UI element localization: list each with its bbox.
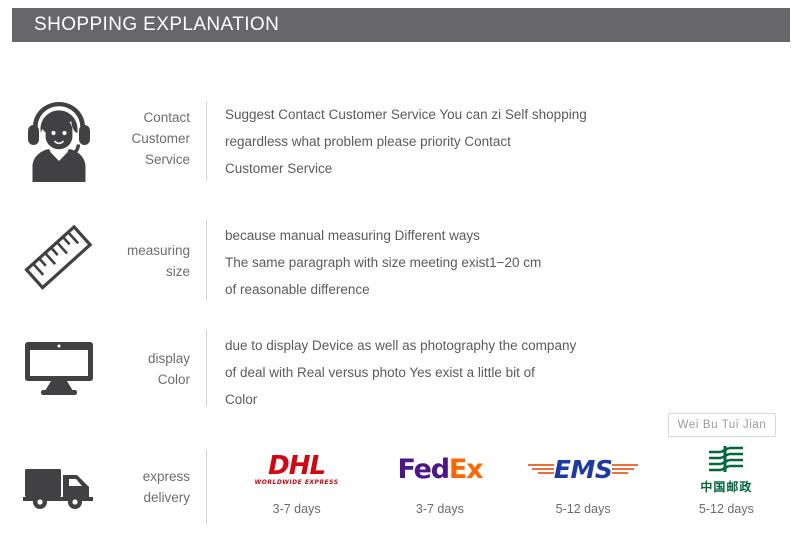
wei-bu-tui-jian-label: Wei Bu Tui Jian (678, 419, 767, 431)
dhl-logo-subtext: WORLDWIDE EXPRESS (255, 480, 339, 486)
dhl-logo-text: DHL (255, 453, 339, 479)
section-measuring-body: because manual measuring Different ways … (207, 218, 541, 303)
fedex-logo-text-ex: Ex (449, 454, 482, 485)
ruler-icon-cell (0, 218, 118, 298)
section-display-label: display Color (118, 330, 192, 390)
dhl-logo: DHL WORLDWIDE EXPRESS (255, 448, 339, 490)
carrier-list: DHL WORLDWIDE EXPRESS 3-7 days FedEx 3-7… (207, 448, 798, 516)
fedex-logo: FedEx (397, 448, 482, 490)
ems-logo-right-stripes (612, 464, 638, 474)
fedex-delivery-days: 3-7 days (416, 502, 464, 516)
ems-logo-text: EMS (554, 457, 612, 482)
monitor-icon (23, 338, 95, 398)
china-post-delivery-days: 5-12 days (699, 502, 754, 516)
delivery-truck-icon-cell (0, 448, 118, 524)
shopping-explanation-page: { "header": { "title": "SHOPPING EXPLANA… (0, 0, 798, 544)
carrier-china-post: 中国邮政 5-12 days (655, 448, 798, 516)
section-measuring-label: measuring size (118, 218, 192, 282)
carrier-fedex: FedEx 3-7 days (368, 448, 511, 516)
ruler-icon (23, 223, 95, 293)
china-post-logo: 中国邮政 (700, 448, 752, 490)
section-measuring-size: measuring size because manual measuring … (0, 218, 798, 303)
dhl-delivery-days: 3-7 days (273, 502, 321, 516)
section-contact-label: Contact Customer Service (118, 95, 192, 170)
section-contact-body: Suggest Contact Customer Service You can… (207, 95, 587, 182)
monitor-icon-cell (0, 330, 118, 406)
delivery-truck-icon (23, 461, 95, 511)
customer-service-agent-icon-cell (0, 95, 118, 187)
china-post-logo-text: 中国邮政 (700, 481, 752, 493)
carrier-dhl: DHL WORLDWIDE EXPRESS 3-7 days (225, 448, 368, 516)
section-express-delivery: express delivery DHL WORLDWIDE EXPRESS 3… (0, 448, 798, 524)
ems-logo: EMS (528, 448, 638, 490)
customer-service-agent-icon (22, 98, 96, 184)
ems-logo-left-stripes (528, 464, 554, 474)
section-delivery-label: express delivery (118, 448, 192, 508)
section-display-color: display Color due to display Device as w… (0, 330, 798, 413)
ems-delivery-days: 5-12 days (556, 502, 611, 516)
page-title: SHOPPING EXPLANATION (12, 14, 279, 36)
section-contact-customer-service: Contact Customer Service Suggest Contact… (0, 95, 798, 187)
carrier-ems: EMS 5-12 days (512, 448, 655, 516)
section-display-body: due to display Device as well as photogr… (207, 330, 576, 413)
fedex-logo-text-fed: Fed (397, 454, 448, 485)
china-post-emblem-icon (703, 446, 749, 474)
page-header-bar: SHOPPING EXPLANATION (12, 8, 790, 42)
wei-bu-tui-jian-note[interactable]: Wei Bu Tui Jian (668, 413, 776, 437)
